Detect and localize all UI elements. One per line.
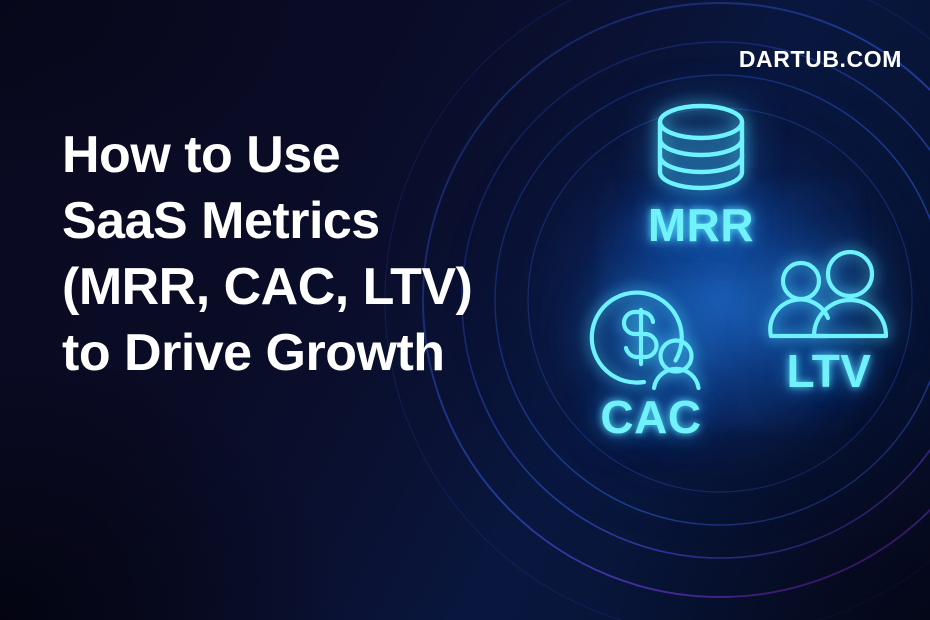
title-line-1: How to Use xyxy=(62,122,522,188)
database-stack-icon xyxy=(641,100,761,196)
dollar-circle-person-icon xyxy=(583,282,719,392)
metric-ltv-label: LTV xyxy=(744,348,914,394)
metric-cac-label: CAC xyxy=(556,394,746,440)
page-title: How to Use SaaS Metrics (MRR, CAC, LTV) … xyxy=(62,122,522,386)
brand-logo: DARTUB.COM xyxy=(739,46,902,73)
title-line-4: to Drive Growth xyxy=(62,320,522,386)
metric-mrr-label: MRR xyxy=(596,202,806,248)
two-people-icon xyxy=(766,250,892,346)
thumbnail-canvas: DARTUB.COM How to Use SaaS Metrics (MRR,… xyxy=(0,0,930,620)
title-line-2: SaaS Metrics xyxy=(62,188,522,254)
metric-ltv: LTV xyxy=(744,250,914,394)
metric-cac: CAC xyxy=(556,282,746,440)
metric-mrr: MRR xyxy=(596,100,806,248)
title-line-3: (MRR, CAC, LTV) xyxy=(62,254,522,320)
